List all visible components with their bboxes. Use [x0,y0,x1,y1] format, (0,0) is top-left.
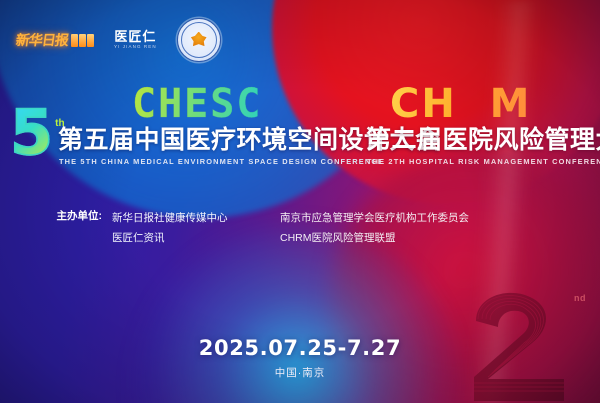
event-location: 中国·南京 [0,365,600,380]
chrm-part-m: M [490,81,532,127]
fifth-edition-numeral: 5 th [10,108,65,159]
chrm-acronym: CHRM [390,84,600,124]
association-emblem-logo [177,18,221,62]
xinhua-logo-blocks [71,34,94,47]
right-title-en: THE 2TH HOSPITAL RISK MANAGEMENT CONFERE… [367,157,600,166]
organisers-label: 主办单位: [0,208,112,249]
yijiangren-logo: 医匠仁 YI JIANG REN [114,30,157,50]
chrm-part-r-reversed: R [457,84,490,124]
sponsor-logo-bar: 新华日报 医匠仁 YI JIANG REN [16,18,221,62]
left-title-zh: 第五届中国医疗环境空间设计大会 [58,127,358,153]
numeral-five: 5 [10,108,53,159]
event-date-block: 2025.07.25-7.27 中国·南京 [0,336,600,380]
numeral-five-suffix: th [55,118,64,129]
chrm-part-ch: CH [390,81,457,127]
left-conference-block: 5 th CHESC 第五届中国医疗环境空间设计大会 THE 5TH CHINA… [0,84,358,166]
emblem-star-icon [190,32,207,49]
right-conference-block: CHRM 第二届医院风险管理大会 THE 2TH HOSPITAL RISK M… [358,84,600,166]
yijiangren-logo-zh: 医匠仁 [114,30,156,43]
organiser-item: 医匠仁资讯 [112,228,242,248]
organiser-item: 南京市应急管理学会医疗机构工作委员会 [280,208,600,228]
yijiangren-logo-en: YI JIANG REN [114,45,157,50]
organiser-item: CHRM医院风险管理联盟 [280,228,600,248]
chesc-acronym: CHESC [132,84,358,124]
organisers-column-one: 新华日报社健康传媒中心 医匠仁资讯 [112,208,242,249]
conference-poster: nd 新华日报 医匠仁 YI JIANG REN 5 th CHESC 第五届中… [0,0,600,403]
organiser-item: 新华日报社健康传媒中心 [112,208,242,228]
left-title-en: THE 5TH CHINA MEDICAL ENVIRONMENT SPACE … [59,157,358,166]
event-date: 2025.07.25-7.27 [0,336,600,360]
organisers-column-two: 南京市应急管理学会医疗机构工作委员会 CHRM医院风险管理联盟 [242,208,600,249]
right-title-zh: 第二届医院风险管理大会 [366,127,600,153]
xinhua-logo-text: 新华日报 [15,30,70,50]
xinhua-daily-logo: 新华日报 [16,29,94,51]
organisers-section: 主办单位: 新华日报社健康传媒中心 医匠仁资讯 南京市应急管理学会医疗机构工作委… [0,208,600,249]
headline-block: 5 th CHESC 第五届中国医疗环境空间设计大会 THE 5TH CHINA… [0,84,600,166]
